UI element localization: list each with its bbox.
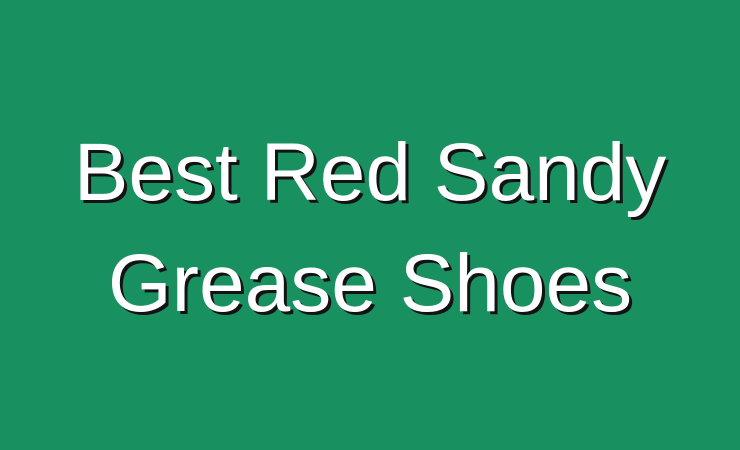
title-line-2: Grease Shoes: [0, 228, 740, 339]
promo-banner: Best Red Sandy Grease Shoes: [0, 0, 740, 450]
title-line-1: Best Red Sandy: [0, 117, 740, 228]
page-title: Best Red Sandy Grease Shoes: [0, 111, 740, 339]
